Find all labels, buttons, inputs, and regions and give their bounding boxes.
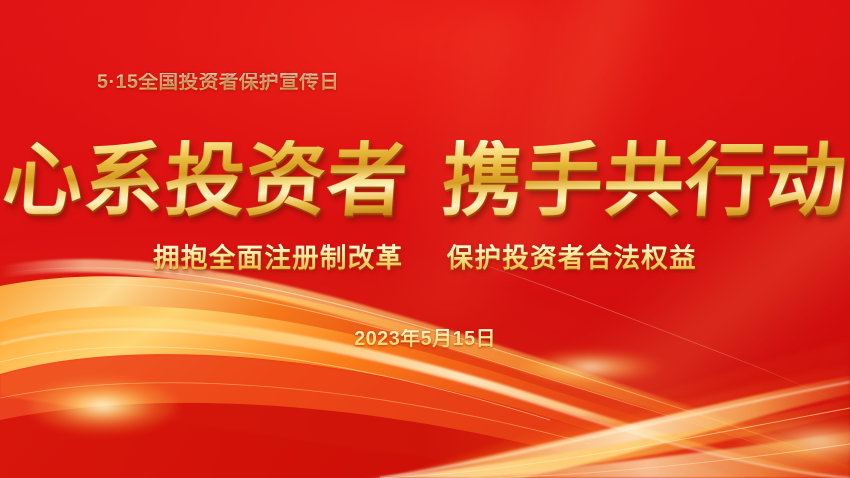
headline-phrase-one: 心系投资者 bbox=[0, 140, 411, 220]
event-date-text: 2023年5月15日 bbox=[0, 329, 850, 349]
poster-content: 5·15全国投资者保护宣传日 心系投资者 携手共行动 拥抱全面注册制改革 保护投… bbox=[0, 0, 850, 478]
subtitle-phrase-two: 保护投资者合法权益 bbox=[447, 242, 697, 274]
event-kicker-text: 5·15全国投资者保护宣传日 bbox=[97, 73, 339, 93]
subtitle-phrase-one: 拥抱全面注册制改革 bbox=[153, 242, 403, 274]
poster-banner: 5·15全国投资者保护宣传日 心系投资者 携手共行动 拥抱全面注册制改革 保护投… bbox=[0, 0, 850, 478]
poster-subtitle: 拥抱全面注册制改革 保护投资者合法权益 bbox=[0, 242, 850, 274]
headline-phrase-two: 携手共行动 bbox=[439, 140, 850, 220]
poster-headline: 心系投资者 携手共行动 bbox=[0, 128, 850, 232]
